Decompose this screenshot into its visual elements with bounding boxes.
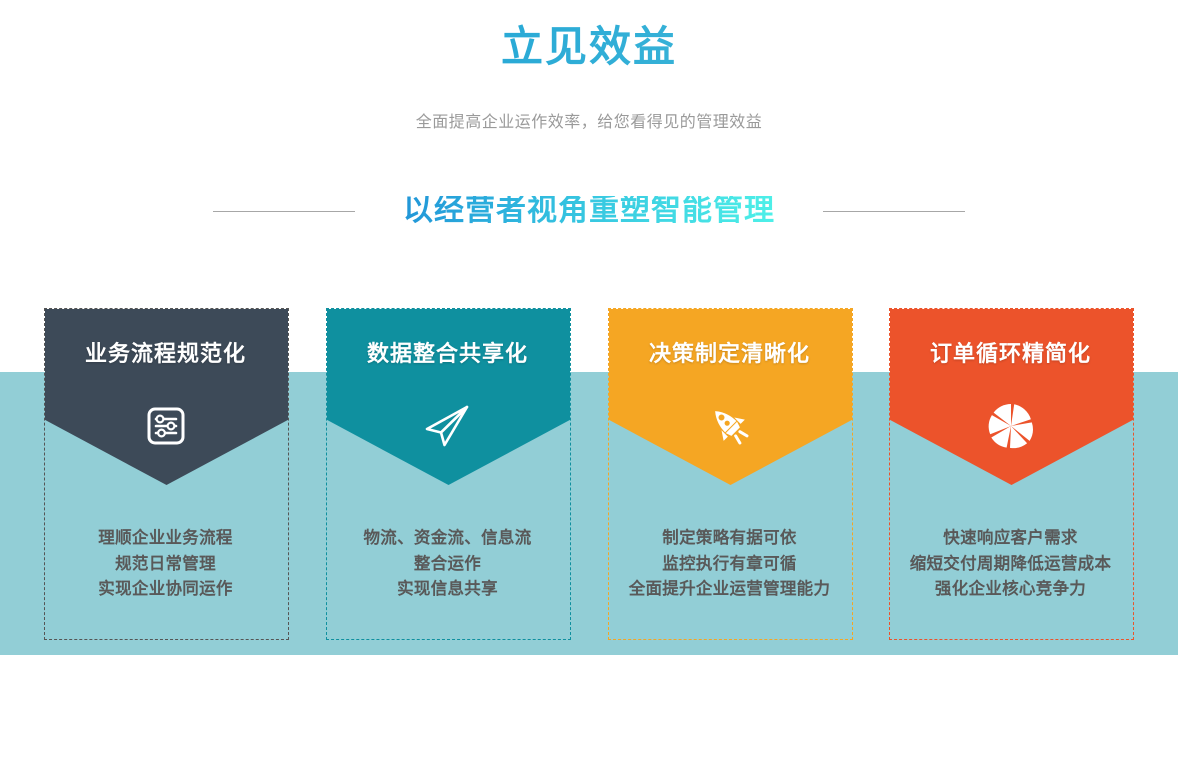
card-description: 物流、资金流、信息流 整合运作 实现信息共享 <box>330 526 565 603</box>
card-description-line: 实现信息共享 <box>330 577 565 603</box>
card-description: 快速响应客户需求 缩短交付周期降低运营成本 强化企业核心竞争力 <box>893 526 1128 603</box>
sliders-icon <box>44 398 287 454</box>
paper-plane-icon <box>326 398 569 454</box>
rocket-icon <box>608 398 851 454</box>
card-title: 业务流程规范化 <box>44 336 287 368</box>
card-title: 决策制定清晰化 <box>608 336 851 368</box>
card-description: 制定策略有据可依 监控执行有章可循 全面提升企业运营管理能力 <box>612 526 847 603</box>
card-description-line: 实现企业协同运作 <box>48 577 283 603</box>
card-description-line: 规范日常管理 <box>48 552 283 578</box>
card-description-line: 制定策略有据可依 <box>612 526 847 552</box>
card-title: 数据整合共享化 <box>326 336 569 368</box>
card-description-line: 缩短交付周期降低运营成本 <box>893 552 1128 578</box>
benefit-card[interactable]: 决策制定清晰化 制定策略有据可依 监控执行有章可循 <box>608 308 853 640</box>
benefit-card[interactable]: 订单循环精简化 快速响应客户需求 缩短交付周期降低运营成本 <box>889 308 1134 640</box>
card-description-line: 监控执行有章可循 <box>612 552 847 578</box>
card-description-line: 物流、资金流、信息流 <box>330 526 565 552</box>
benefit-card-list: 业务流程规范化 理顺企业业务流程 规范日常管理 实现企业协同运作 <box>0 0 1178 771</box>
card-title: 订单循环精简化 <box>889 336 1132 368</box>
benefit-card[interactable]: 数据整合共享化 物流、资金流、信息流 整合运作 实现信息共享 <box>326 308 571 640</box>
card-description-line: 理顺企业业务流程 <box>48 526 283 552</box>
benefits-section: 立见效益 全面提高企业运作效率，给您看得见的管理效益 以经营者视角重塑智能管理 … <box>0 0 1178 771</box>
card-description-line: 强化企业核心竞争力 <box>893 577 1128 603</box>
card-description-line: 快速响应客户需求 <box>893 526 1128 552</box>
card-description-line: 全面提升企业运营管理能力 <box>612 577 847 603</box>
aperture-icon <box>889 398 1132 454</box>
card-description: 理顺企业业务流程 规范日常管理 实现企业协同运作 <box>48 526 283 603</box>
card-description-line: 整合运作 <box>330 552 565 578</box>
benefit-card[interactable]: 业务流程规范化 理顺企业业务流程 规范日常管理 实现企业协同运作 <box>44 308 289 640</box>
